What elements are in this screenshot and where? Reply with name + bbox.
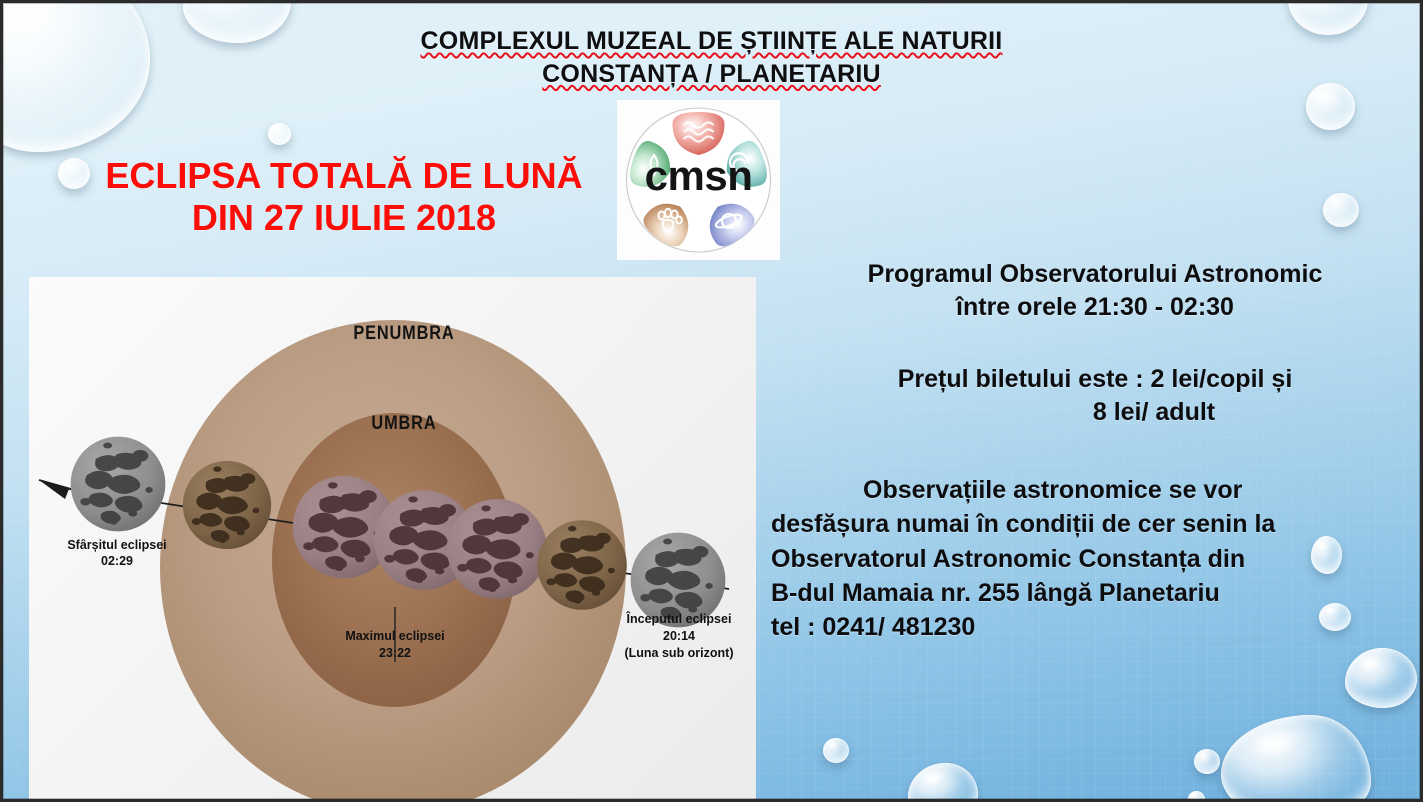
- bubble-decoration: [1188, 791, 1205, 802]
- bubble-decoration: [1221, 715, 1371, 802]
- program-block: Programul Observatorului Astronomic într…: [771, 258, 1419, 325]
- museum-header: COMPLEXUL MUZEAL DE ȘTIINȚE ALE NATURII …: [3, 25, 1420, 90]
- contact-line3: Observatorul Astronomic Constanța din: [771, 542, 1419, 576]
- event-title-line2: DIN 27 IULIE 2018: [79, 197, 609, 239]
- moon-umbra-3: [447, 499, 547, 599]
- bubble-decoration: [823, 738, 849, 763]
- penumbra-label: PENUMBRA: [353, 322, 454, 343]
- eclipse-end-title: Sfârșitul eclipsei: [67, 538, 166, 552]
- eclipse-start-note: (Luna sub orizont): [624, 646, 733, 660]
- moon-penumbra-right: [537, 520, 627, 610]
- price-line2: 8 lei/ adult: [771, 396, 1419, 429]
- contact-line4: B-dul Mamaia nr. 255 lângă Planetariu: [771, 576, 1419, 610]
- price-block: Prețul biletului este : 2 lei/copil și 8…: [771, 363, 1419, 430]
- program-line2: între orele 21:30 - 02:30: [771, 291, 1419, 324]
- bubble-decoration: [268, 123, 291, 145]
- eclipse-max-title: Maximul eclipsei: [345, 629, 444, 643]
- contact-block: Observațiile astronomice se vor desfășur…: [771, 473, 1419, 644]
- eclipse-end-time: 02:29: [101, 554, 133, 568]
- eclipse-start-annotation: Începutul eclipsei 20:14 (Luna sub orizo…: [624, 611, 733, 660]
- moon-penumbra-left: [183, 461, 271, 549]
- eclipse-max-time: 23:22: [379, 646, 411, 660]
- program-line1: Programul Observatorului Astronomic: [771, 258, 1419, 291]
- event-title-line1: ECLIPSA TOTALĂ DE LUNĂ: [79, 155, 609, 197]
- eclipse-start-title: Începutul eclipsei: [626, 611, 732, 626]
- eclipse-end-annotation: Sfârșitul eclipsei 02:29: [67, 538, 166, 568]
- presentation-slide: COMPLEXUL MUZEAL DE ȘTIINȚE ALE NATURII …: [0, 0, 1423, 802]
- cmsn-wordmark: cmsn: [645, 152, 753, 199]
- bubble-decoration: [1323, 193, 1359, 227]
- bubble-decoration: [1345, 648, 1417, 708]
- bubble-decoration: [1306, 83, 1355, 130]
- museum-header-line1: COMPLEXUL MUZEAL DE ȘTIINȚE ALE NATURII: [421, 25, 1003, 58]
- umbra-label: UMBRA: [371, 412, 436, 433]
- contact-line5: tel : 0241/ 481230: [771, 610, 1419, 644]
- event-title: ECLIPSA TOTALĂ DE LUNĂ DIN 27 IULIE 2018: [79, 155, 609, 240]
- museum-header-line2: CONSTANȚA / PLANETARIU: [542, 58, 881, 91]
- price-line1: Prețul biletului este : 2 lei/copil și: [771, 363, 1419, 396]
- contact-line2: desfășura numai în condiții de cer senin…: [771, 507, 1419, 541]
- contact-line1: Observațiile astronomice se vor: [771, 473, 1419, 507]
- cmsn-logo: cmsn: [617, 100, 780, 260]
- moon-outside-left: [71, 437, 166, 532]
- bubble-decoration: [1194, 749, 1220, 774]
- eclipse-start-time: 20:14: [663, 629, 695, 643]
- lunar-eclipse-diagram: PENUMBRA UMBRA Sfârșitul eclipsei 02:29 …: [29, 277, 756, 802]
- bubble-decoration: [908, 763, 978, 802]
